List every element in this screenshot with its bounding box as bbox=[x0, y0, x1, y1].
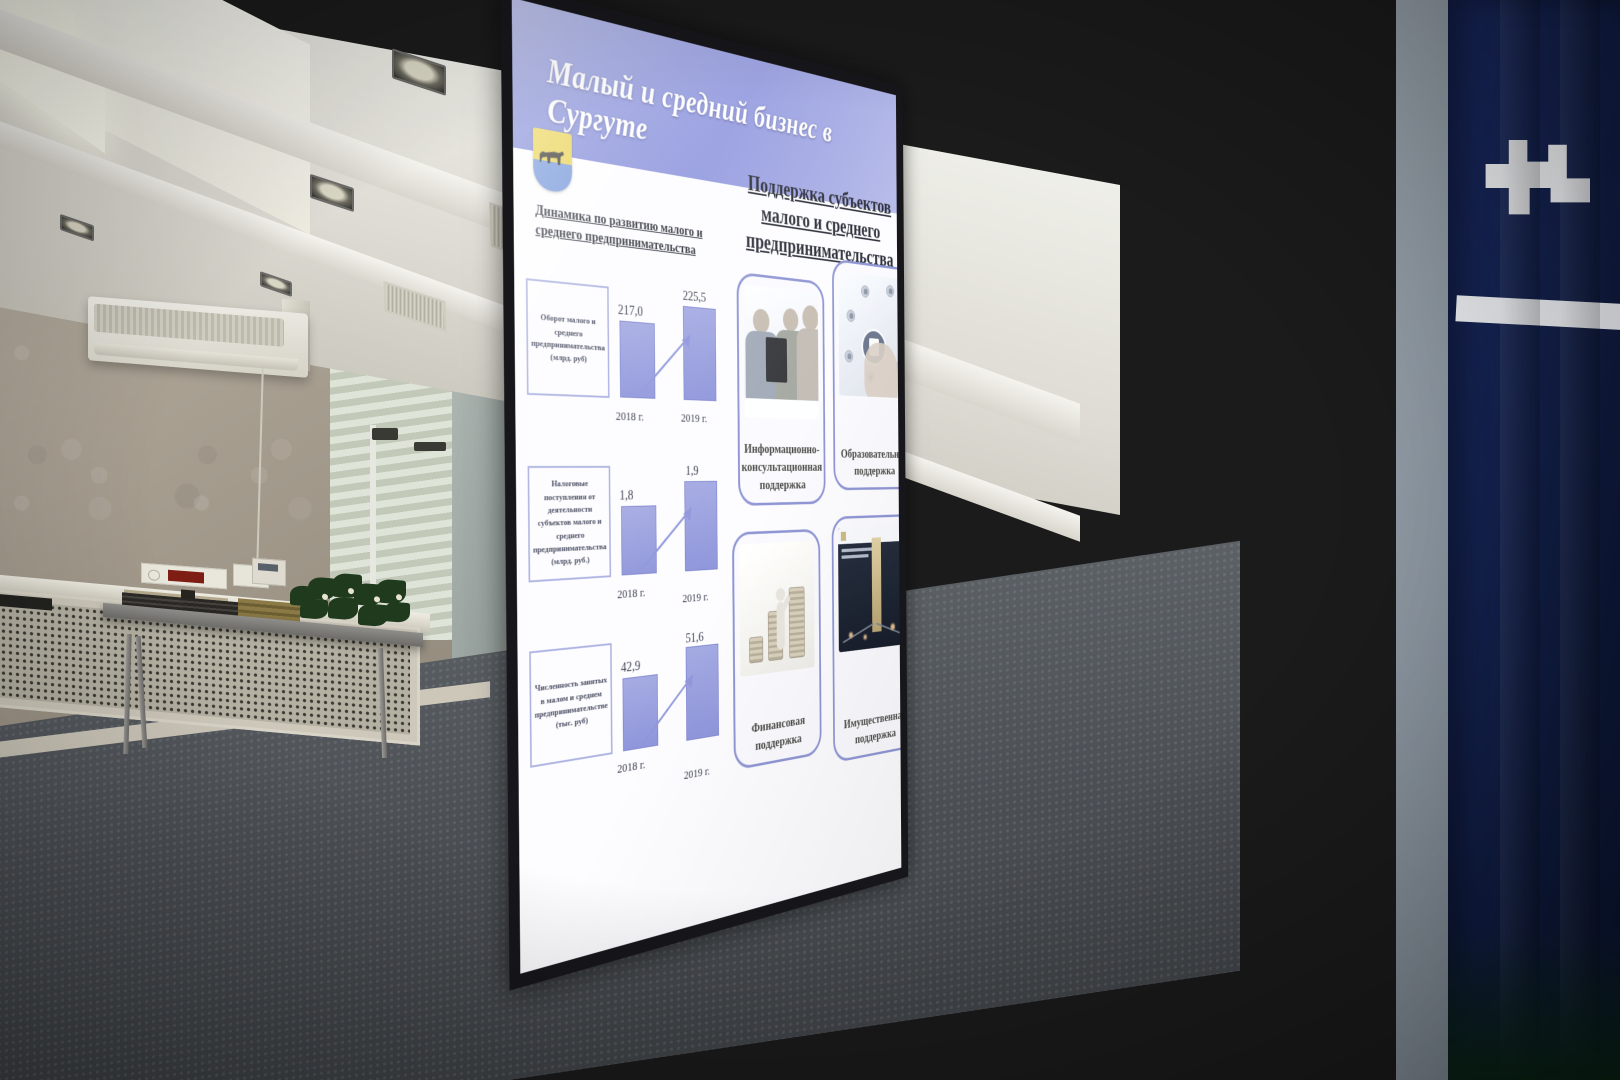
screen-surface: Малый и средний бизнес в Сургуте Динамик… bbox=[512, 0, 902, 974]
chart-tax-revenue: Налоговые поступления от деятельности су… bbox=[527, 448, 727, 621]
chart-turnover: Оборот малого и среднего предприниматель… bbox=[526, 260, 726, 436]
x-tick-label: 2019 г. bbox=[684, 764, 710, 783]
chart-plot: 1,8 1,9 2018 г. 2019 г. bbox=[615, 449, 728, 613]
chart-caption: Налоговые поступления от деятельности су… bbox=[528, 466, 612, 583]
bar-value-label: 1,9 bbox=[686, 464, 699, 479]
bar-value-label: 217,0 bbox=[618, 303, 643, 321]
x-tick-label: 2018 г. bbox=[616, 409, 644, 425]
website-header-bar bbox=[838, 525, 901, 544]
ceiling-spotlight-icon bbox=[392, 48, 446, 96]
support-card-property[interactable]: Имущественнаяподдержка bbox=[832, 514, 902, 763]
fox-emblem-icon bbox=[540, 146, 564, 166]
bar-value-label: 1,8 bbox=[619, 488, 633, 504]
khanty-mansi-flag bbox=[1448, 0, 1620, 1080]
projection-screen[interactable]: Малый и средний бизнес в Сургуте Динамик… bbox=[500, 0, 908, 991]
flag-fold bbox=[1500, 0, 1540, 1080]
ceiling-spotlight-icon bbox=[310, 174, 354, 212]
chart-caption: Оборот малого и среднего предприниматель… bbox=[526, 278, 610, 398]
ceiling-spotlight-icon bbox=[60, 214, 94, 242]
support-card-info[interactable]: Информационно-консультационнаяподдержка bbox=[736, 272, 825, 506]
support-card-label: Информационно-консультационнаяподдержка bbox=[741, 441, 822, 496]
person-figure-icon bbox=[776, 602, 784, 650]
growth-arrow-icon bbox=[640, 665, 703, 747]
bar-value-label: 42,9 bbox=[621, 659, 641, 677]
bar-value-label: 225,5 bbox=[683, 289, 706, 307]
support-card-label: Финансоваяподдержка bbox=[751, 712, 805, 757]
wall-control-box[interactable] bbox=[252, 558, 286, 587]
x-tick-label: 2018 г. bbox=[617, 757, 645, 777]
growth-arrow-icon bbox=[637, 322, 700, 399]
indicator-led bbox=[168, 570, 204, 584]
surgut-bridge-website-photo bbox=[838, 525, 901, 652]
growth-arrow-icon bbox=[639, 497, 702, 572]
coin-stacks-photo bbox=[739, 541, 814, 677]
chart-employment: Численность занятых в малом и среднем пр… bbox=[529, 615, 729, 806]
support-card-financial[interactable]: Финансоваяподдержка bbox=[732, 529, 822, 771]
power-outlet-icon bbox=[148, 569, 160, 581]
support-card-label: Образовательнаяподдержка bbox=[841, 446, 902, 480]
support-card-label: Имущественнаяподдержка bbox=[844, 707, 902, 752]
bridge-pylon bbox=[872, 537, 882, 632]
x-tick-label: 2019 г. bbox=[682, 589, 708, 605]
clip-object bbox=[181, 589, 195, 599]
flag-green-hem bbox=[1448, 930, 1620, 1080]
x-tick-label: 2019 г. bbox=[681, 411, 707, 426]
chart-plot: 42,9 51,6 2018 г. 2019 г. bbox=[616, 615, 729, 790]
conference-room-scene: Малый и средний бизнес в Сургуте Динамик… bbox=[0, 0, 1620, 1080]
network-touch-photo bbox=[838, 271, 901, 399]
presentation-slide: Малый и средний бизнес в Сургуте Динамик… bbox=[512, 0, 902, 974]
ceiling-spotlight-icon bbox=[260, 271, 292, 297]
left-section-heading: Динамика по развитию малого и среднего п… bbox=[535, 200, 718, 262]
surgut-coat-of-arms-icon bbox=[533, 127, 572, 194]
chart-plot: 217,0 225,5 2018 г. 2019 г. bbox=[613, 270, 726, 437]
wall-bracket-lower bbox=[414, 442, 446, 451]
support-card-education[interactable]: Образовательнаяподдержка bbox=[832, 258, 901, 490]
x-tick-label: 2018 г. bbox=[617, 585, 645, 602]
flag-fold bbox=[1560, 0, 1600, 1080]
chart-caption: Численность занятых в малом и среднем пр… bbox=[529, 643, 612, 768]
air-conditioner-grille bbox=[94, 304, 284, 347]
pointing-hand bbox=[864, 342, 898, 399]
people-meeting-photo bbox=[744, 285, 819, 420]
wall-bracket-upper bbox=[372, 428, 398, 440]
